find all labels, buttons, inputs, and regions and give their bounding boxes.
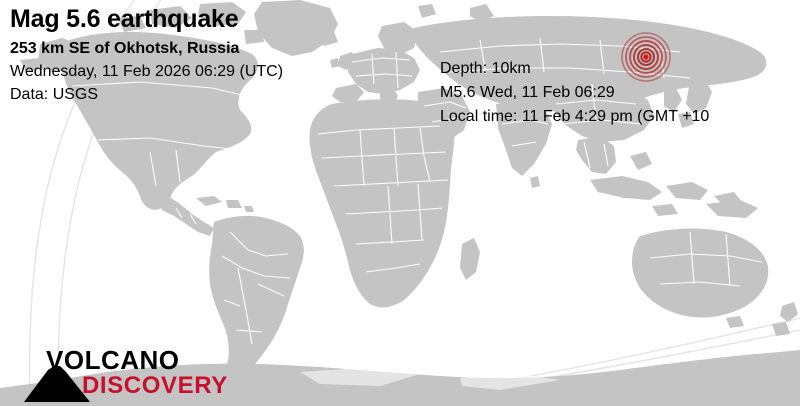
earthquake-header: Mag 5.6 earthquake 253 km SE of Okhotsk,…: [10, 4, 430, 106]
earthquake-location: 253 km SE of Okhotsk, Russia: [10, 37, 430, 60]
depth-label: Depth: 10km: [440, 57, 800, 81]
page-title: Mag 5.6 earthquake: [10, 4, 430, 34]
earthquake-datetime-utc: Wednesday, 11 Feb 2026 06:29 (UTC): [10, 60, 430, 83]
magnitude-time-label: M5.6 Wed, 11 Feb 06:29: [440, 81, 800, 105]
earthquake-info-panel: Depth: 10km M5.6 Wed, 11 Feb 06:29 Local…: [440, 57, 800, 129]
data-source-label: Data: USGS: [10, 83, 430, 106]
logo-word-discovery: DISCOVERY: [82, 373, 228, 399]
volcano-discovery-logo[interactable]: VOLCANO DISCOVERY: [24, 342, 234, 404]
local-time-label: Local time: 11 Feb 4:29 pm (GMT +10: [440, 105, 800, 129]
logo-word-volcano: VOLCANO: [46, 346, 180, 374]
earthquake-map-screenshot: Mag 5.6 earthquake 253 km SE of Okhotsk,…: [0, 0, 800, 406]
